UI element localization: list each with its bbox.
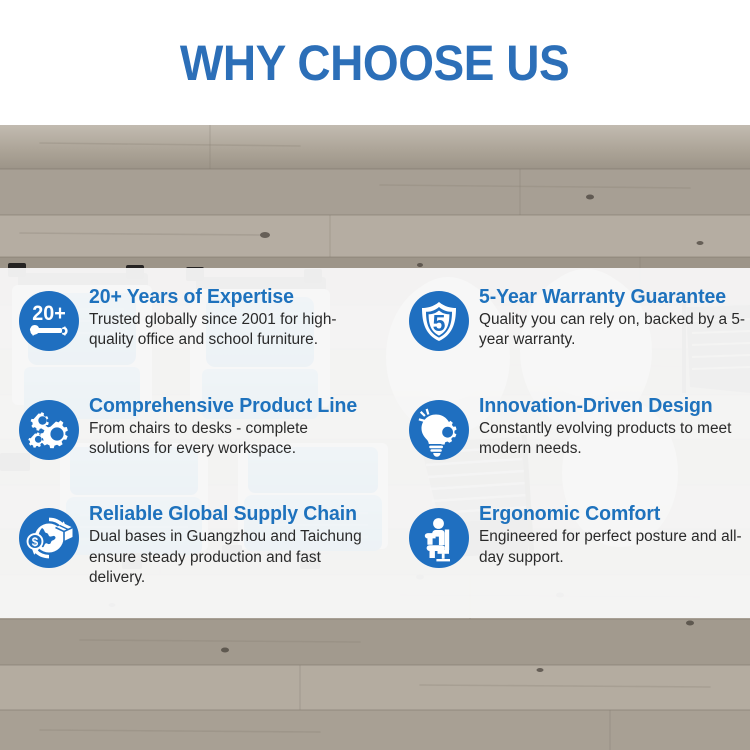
why-choose-us-poster: WHY CHOOSE US — [0, 0, 750, 750]
gears-icon — [18, 399, 80, 461]
svg-text:5: 5 — [433, 310, 446, 336]
feature-description: Quality you can rely on, backed by a 5-y… — [479, 310, 746, 351]
feature-description: Constantly evolving products to meet mod… — [479, 419, 746, 460]
feature-description: Engineered for perfect posture and all-d… — [479, 527, 746, 568]
feature-text-block: 5-Year Warranty Guarantee Quality you ca… — [479, 284, 746, 351]
feature-title: 20+ Years of Expertise — [89, 286, 353, 309]
svg-text:20+: 20+ — [32, 302, 66, 325]
feature-title: 5-Year Warranty Guarantee — [479, 286, 733, 309]
ergonomic-seated-person-icon — [408, 507, 470, 569]
feature-description: Dual bases in Guangzhou and Taichung ens… — [89, 527, 377, 588]
feature-text-block: Ergonomic Comfort Engineered for perfect… — [479, 501, 746, 568]
lightbulb-gear-icon — [408, 399, 470, 461]
feature-text-block: Reliable Global Supply Chain Dual bases … — [89, 501, 377, 588]
svg-text:$: $ — [32, 537, 39, 549]
feature-item-warranty-guarantee: 5 5-Year Warranty Guarantee Quality you … — [396, 282, 750, 391]
title-band: WHY CHOOSE US — [0, 0, 750, 125]
feature-title: Ergonomic Comfort — [479, 503, 733, 526]
feature-description: Trusted globally since 2001 for high-qua… — [89, 310, 367, 351]
feature-item-ergonomic-comfort: Ergonomic Comfort Engineered for perfect… — [396, 499, 750, 608]
feature-text-block: Innovation-Driven Design Constantly evol… — [479, 393, 746, 460]
feature-title: Reliable Global Supply Chain — [89, 503, 363, 526]
feature-item-product-line: Comprehensive Product Line From chairs t… — [6, 391, 396, 500]
feature-title: Comprehensive Product Line — [89, 395, 357, 418]
feature-description: From chairs to desks - complete solution… — [89, 419, 367, 460]
feature-item-global-supply-chain: $ Reliable Global Supply Chain Dual base… — [6, 499, 396, 608]
page-title: WHY CHOOSE US — [180, 34, 569, 92]
global-supply-chain-icon: $ — [18, 507, 80, 569]
feature-item-years-of-expertise: 20+ 20+ Years of Expertise Trusted — [6, 282, 396, 391]
feature-text-block: 20+ Years of Expertise Trusted globally … — [89, 284, 367, 351]
years-badge-wrench-icon: 20+ — [18, 290, 80, 352]
features-panel: 20+ 20+ Years of Expertise Trusted — [0, 268, 750, 618]
feature-text-block: Comprehensive Product Line From chairs t… — [89, 393, 371, 460]
shield-five-icon: 5 — [408, 290, 470, 352]
feature-item-innovation-design: Innovation-Driven Design Constantly evol… — [396, 391, 750, 500]
feature-title: Innovation-Driven Design — [479, 395, 733, 418]
